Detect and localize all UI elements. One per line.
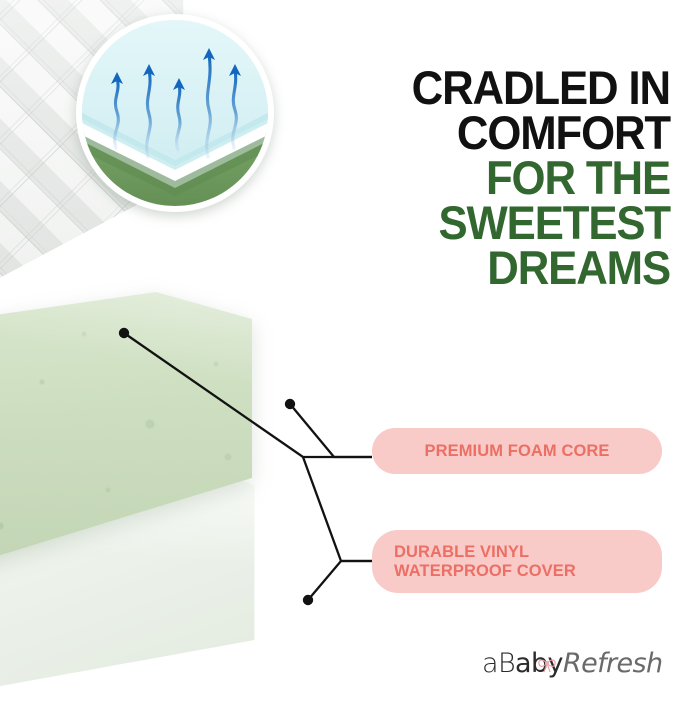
foam-core-shading (0, 292, 420, 592)
headline-line-2: COMFORT (298, 111, 670, 156)
bow-icon (534, 650, 560, 676)
feature-pill-vinyl-line-2: WATERPROOF COVER (394, 562, 576, 581)
feature-pill-vinyl-line-1: DURABLE VINYL (394, 543, 576, 562)
breathability-badge-inner (82, 20, 268, 206)
brand-logo-text: aBabyRefresh (482, 648, 662, 679)
headline-line-1: CRADLED IN (298, 66, 670, 111)
feature-pill-durable-vinyl-waterproof-cover: DURABLE VINYL WATERPROOF COVER (372, 530, 662, 593)
headline-line-4: SWEETEST (298, 201, 670, 246)
feature-pill-foam-lines: PREMIUM FOAM CORE (424, 442, 609, 461)
headline-line-5: DREAMS (298, 246, 670, 291)
feature-pill-vinyl-lines: DURABLE VINYL WATERPROOF COVER (394, 543, 576, 581)
breathability-badge (76, 14, 274, 212)
brand-logo: aBabyRefresh (482, 648, 662, 688)
product-layer-foam-core (0, 292, 420, 592)
feature-pill-premium-foam-core: PREMIUM FOAM CORE (372, 428, 662, 474)
feature-pill-foam-line-1: PREMIUM FOAM CORE (424, 442, 609, 461)
airflow-icon (82, 20, 268, 206)
headline: CRADLED IN COMFORT FOR THE SWEETEST DREA… (298, 66, 670, 290)
brand-logo-part-a: aB (482, 648, 515, 679)
product-image-canvas: CRADLED IN COMFORT FOR THE SWEETEST DREA… (0, 0, 679, 707)
brand-logo-part-c: Refresh (563, 648, 663, 679)
headline-line-3: FOR THE (298, 156, 670, 201)
